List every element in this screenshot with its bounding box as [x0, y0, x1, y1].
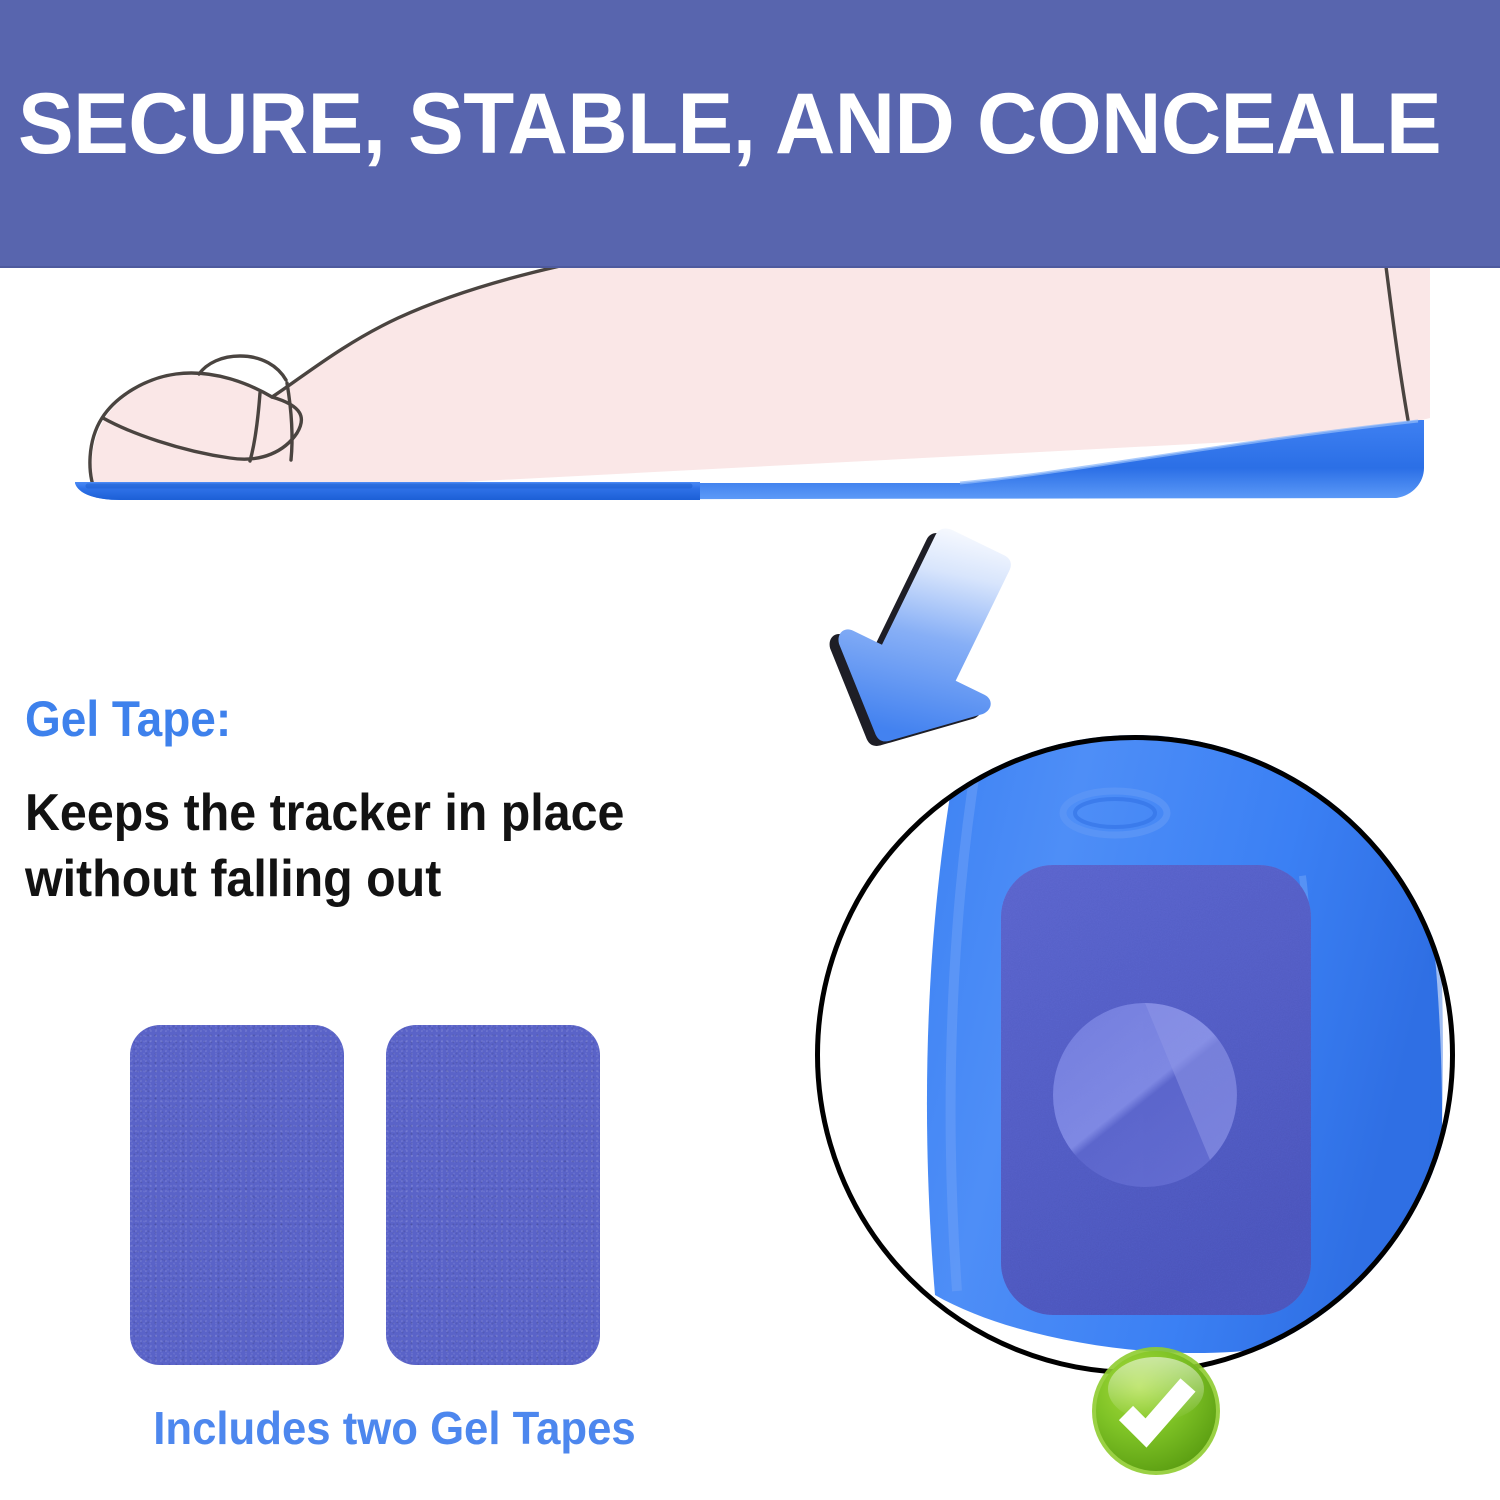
foot-insole-illustration: [0, 268, 1500, 528]
status-badge: [1090, 1345, 1222, 1477]
gel-tape-description: Keeps the tracker in place without falli…: [25, 780, 760, 912]
gel-tape-heading: Gel Tape:: [25, 690, 231, 748]
infographic-canvas: SECURE, STABLE, AND CONCEALE: [0, 0, 1500, 1500]
tracker-disc: [1053, 1003, 1237, 1187]
gel-tape-swatches: [130, 1025, 630, 1365]
description-line-2: without falling out: [25, 846, 760, 912]
description-line-1: Keeps the tracker in place: [25, 780, 760, 846]
gel-tape-pad: [130, 1025, 344, 1365]
header-banner: SECURE, STABLE, AND CONCEALE: [0, 0, 1500, 268]
gel-tape-caption: Includes two Gel Tapes: [100, 1400, 689, 1456]
page-title: SECURE, STABLE, AND CONCEALE: [18, 78, 1441, 170]
gel-tape-pad: [386, 1025, 600, 1365]
down-arrow-icon: [820, 520, 1050, 770]
magnifier-content: [815, 735, 1455, 1375]
magnified-detail-callout: [815, 735, 1455, 1375]
